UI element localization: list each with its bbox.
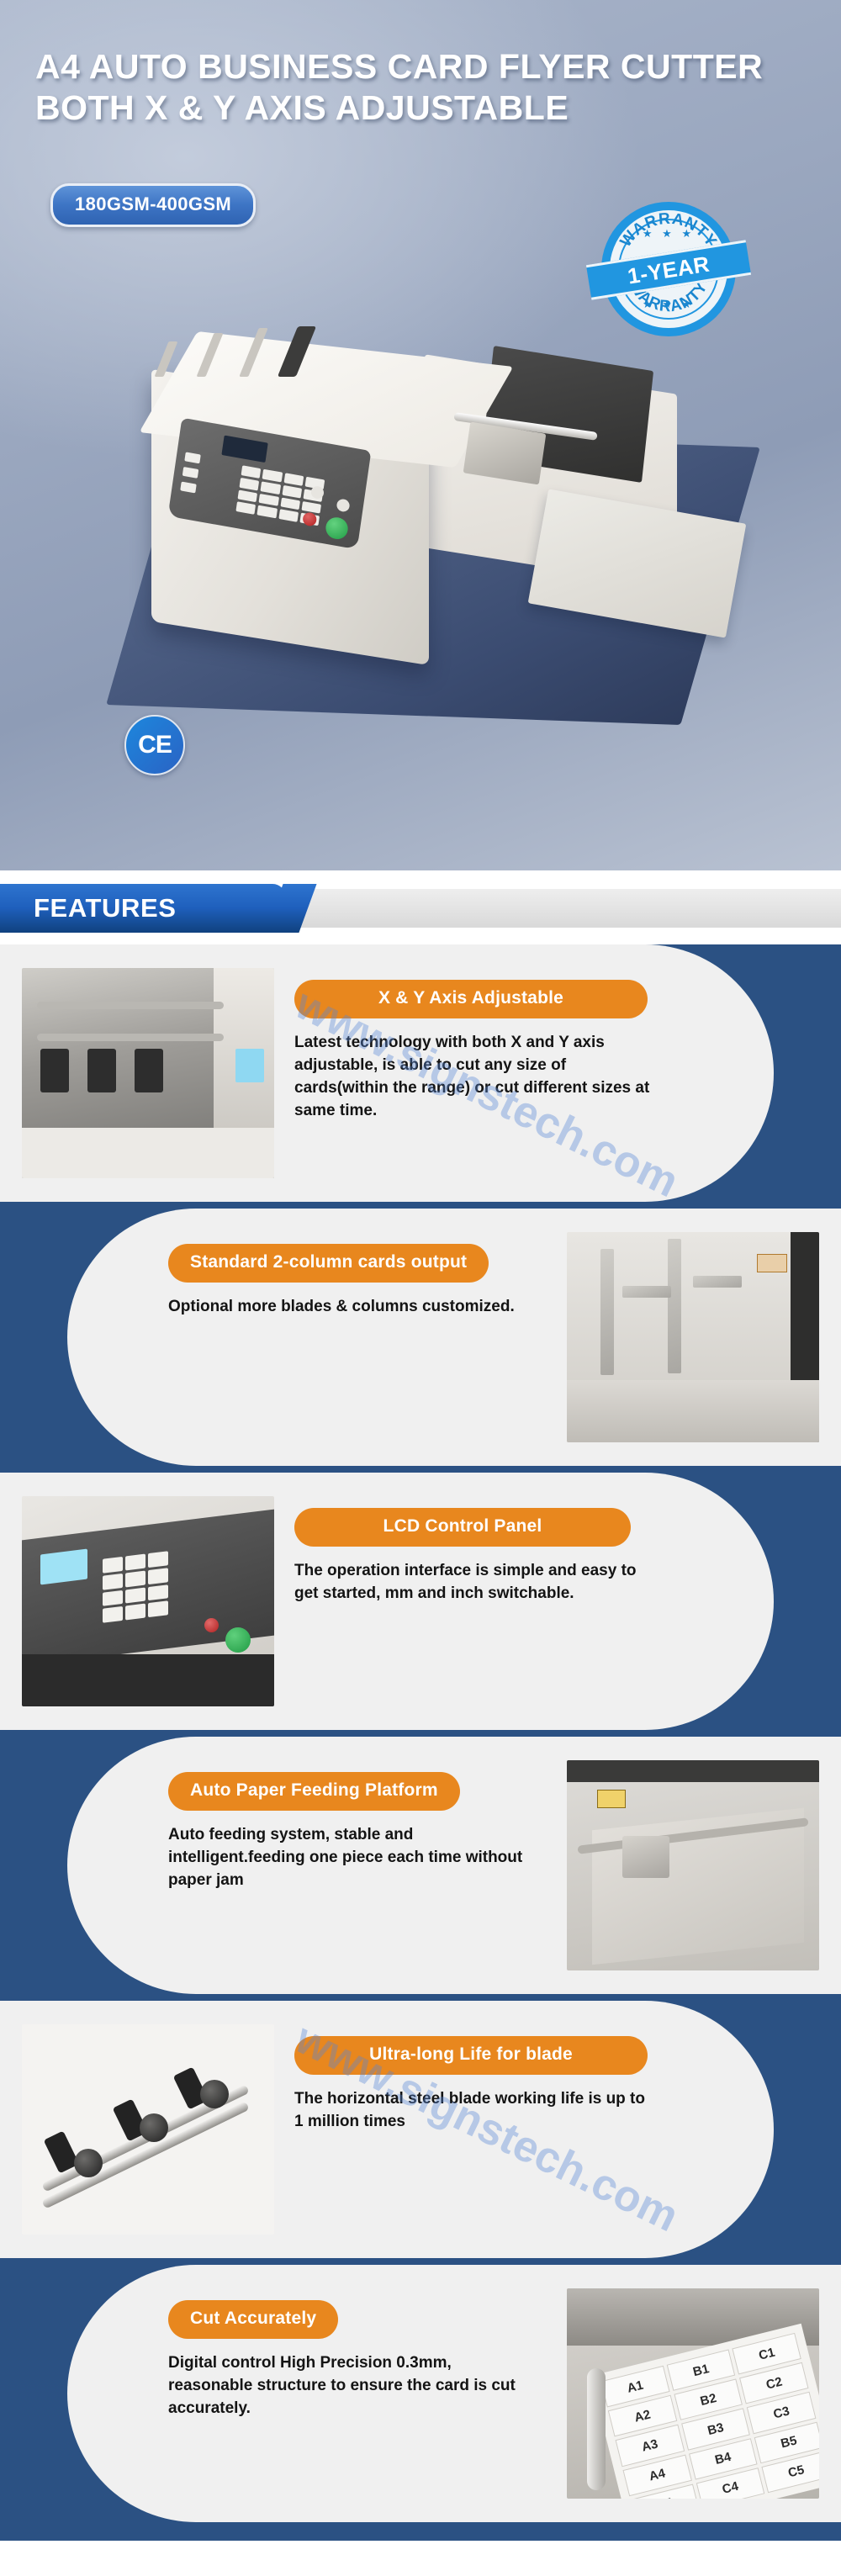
feature-description: Latest technology with both X and Y axis…	[294, 1032, 656, 1123]
cutter-rollers-photo	[22, 968, 274, 1178]
feature-card: Cut Accurately Digital control High Prec…	[67, 2265, 841, 2522]
feature-text: Cut Accurately Digital control High Prec…	[168, 2288, 547, 2420]
feature-card: X & Y Axis Adjustable Latest technology …	[0, 944, 774, 1202]
feature-row-x-y-axis-adjustable: X & Y Axis Adjustable Latest technology …	[0, 944, 841, 1202]
row-divider	[0, 1730, 841, 1737]
feature-title-badge: Cut Accurately	[168, 2300, 338, 2339]
feature-text: LCD Control Panel The operation interfac…	[294, 1496, 673, 1605]
card-output-bins-photo	[567, 1232, 819, 1442]
feature-title-badge: X & Y Axis Adjustable	[294, 980, 648, 1018]
product-photo-card-cutter	[126, 311, 732, 732]
features-section: FEATURES X & Y Axis Adjustable Latest te…	[0, 870, 841, 2541]
row-divider	[0, 1466, 841, 1473]
feature-title-badge: Auto Paper Feeding Platform	[168, 1772, 460, 1811]
cut-cards-grid-photo: A1B1C1A2B2C2A3B3C3A4B4B5A5C4C5	[567, 2288, 819, 2499]
cut-card-grid: A1B1C1A2B2C2A3B3C3A4B4B5A5C4C5	[596, 2329, 819, 2499]
paper-guides	[161, 318, 355, 377]
feature-card: LCD Control Panel The operation interfac…	[0, 1473, 774, 1730]
feature-row-ultra-long-life-for-blade: Ultra-long Life for blade The horizontal…	[0, 2001, 841, 2258]
features-label: FEATURES	[34, 893, 177, 923]
feature-description: Digital control High Precision 0.3mm, re…	[168, 2352, 530, 2420]
lcd-keypad-photo	[22, 1496, 274, 1706]
feature-card: Ultra-long Life for blade The horizontal…	[0, 2001, 774, 2258]
steel-blade-assembly-photo	[22, 2024, 274, 2235]
paper-feeding-platform-photo	[567, 1760, 819, 1970]
seal-stars-top: ★ ★ ★	[601, 227, 736, 241]
features-header: FEATURES	[0, 870, 841, 944]
feature-text: Standard 2-column cards output Optional …	[168, 1232, 547, 1319]
feature-card: Auto Paper Feeding Platform Auto feeding…	[67, 1737, 841, 1994]
feature-text: Auto Paper Feeding Platform Auto feeding…	[168, 1760, 547, 1892]
function-keys	[179, 452, 209, 500]
feature-row-lcd-control-panel: LCD Control Panel The operation interfac…	[0, 1473, 841, 1730]
ce-mark-icon: CE	[124, 715, 185, 775]
page-title: A4 AUTO BUSINESS CARD FLYER CUTTER BOTH …	[35, 46, 792, 129]
feature-title-badge: Ultra-long Life for blade	[294, 2036, 648, 2075]
feature-description: The operation interface is simple and ea…	[294, 1560, 656, 1605]
row-divider	[0, 1994, 841, 2001]
features-tag: FEATURES	[0, 884, 286, 933]
feature-text: X & Y Axis Adjustable Latest technology …	[294, 968, 673, 1123]
feature-rows: X & Y Axis Adjustable Latest technology …	[0, 944, 841, 2522]
hero-title-line2: BOTH X & Y AXIS ADJUSTABLE	[35, 87, 792, 129]
feature-description: Auto feeding system, stable and intellig…	[168, 1824, 530, 1892]
footer-band	[0, 2522, 841, 2541]
reset-button	[336, 498, 350, 512]
hero-title-line1: A4 AUTO BUSINESS CARD FLYER CUTTER	[35, 47, 763, 86]
feature-text: Ultra-long Life for blade The horizontal…	[294, 2024, 673, 2134]
feature-title-badge: LCD Control Panel	[294, 1508, 631, 1547]
feature-row-standard-2-column-cards-output: Standard 2-column cards output Optional …	[0, 1209, 841, 1466]
row-divider	[0, 2258, 841, 2265]
feature-row-cut-accurately: Cut Accurately Digital control High Prec…	[0, 2265, 841, 2522]
start-button	[325, 516, 350, 541]
feature-description: The horizontal steel blade working life …	[294, 2088, 656, 2134]
hero-banner: A4 AUTO BUSINESS CARD FLYER CUTTER BOTH …	[0, 0, 841, 870]
feature-row-auto-paper-feeding-platform: Auto Paper Feeding Platform Auto feeding…	[0, 1737, 841, 1994]
warranty-seal-badge: WARRANTY WARRANTY ★ ★ ★ ★ ★ ★ 1-YEAR	[601, 202, 736, 336]
row-divider	[0, 1202, 841, 1209]
seal-stars-bottom: ★ ★ ★	[601, 298, 736, 311]
lcd-screen	[221, 436, 267, 463]
feature-card: Standard 2-column cards output Optional …	[67, 1209, 841, 1466]
gsm-range-badge: 180GSM-400GSM	[50, 183, 256, 227]
feature-description: Optional more blades & columns customize…	[168, 1296, 530, 1319]
feature-title-badge: Standard 2-column cards output	[168, 1244, 489, 1283]
